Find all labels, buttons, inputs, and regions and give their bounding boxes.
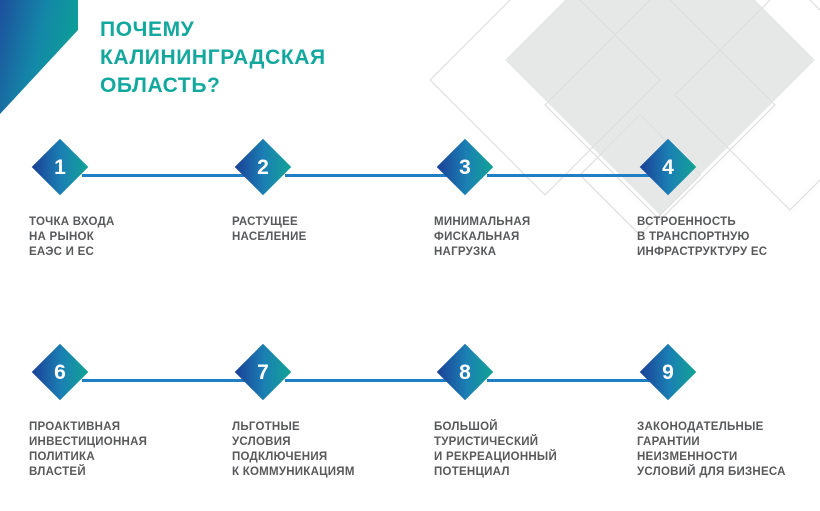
timeline-node-1[interactable]: 1 ТОЧКА ВХОДА НА РЫНОК ЕАЭС И ЕС — [32, 140, 242, 210]
diamond-marker-7: 7 — [235, 345, 291, 415]
diamond-marker-3: 3 — [437, 140, 493, 210]
diamond-marker-1: 1 — [32, 140, 88, 210]
diamond-marker-2: 2 — [235, 140, 291, 210]
node-label: МИНИМАЛЬНАЯ ФИСКАЛЬНАЯ НАГРУЗКА — [434, 215, 634, 260]
diamond-number: 7 — [235, 352, 291, 392]
diamond-marker-8: 8 — [437, 345, 493, 415]
node-label: РАСТУЩЕЕ НАСЕЛЕНИЕ — [232, 215, 432, 245]
timeline-node-8[interactable]: 8 БОЛЬШОЙ ТУРИСТИЧЕСКИЙ И РЕКРЕАЦИОННЫЙ … — [437, 345, 647, 415]
timeline-node-7[interactable]: 7 ЛЬГОТНЫЕ УСЛОВИЯ ПОДКЛЮЧЕНИЯ К КОММУНИ… — [235, 345, 445, 415]
diamond-number: 8 — [437, 352, 493, 392]
diamond-number: 6 — [32, 352, 88, 392]
timeline-row-1: 1 ТОЧКА ВХОДА НА РЫНОК ЕАЭС И ЕС 2 РАСТУ… — [0, 140, 820, 300]
page-title: ПОЧЕМУ КАЛИНИНГРАДСКАЯ ОБЛАСТЬ? — [100, 16, 520, 100]
timeline-row-2: 6 ПРОАКТИВНАЯ ИНВЕСТИЦИОННАЯ ПОЛИТИКА ВЛ… — [0, 345, 820, 505]
diamond-number: 1 — [32, 147, 88, 187]
node-label: ЛЬГОТНЫЕ УСЛОВИЯ ПОДКЛЮЧЕНИЯ К КОММУНИКА… — [232, 420, 432, 480]
node-label: ПРОАКТИВНАЯ ИНВЕСТИЦИОННАЯ ПОЛИТИКА ВЛАС… — [29, 420, 229, 480]
slide-root: ПОЧЕМУ КАЛИНИНГРАДСКАЯ ОБЛАСТЬ? 1 ТОЧКА … — [0, 0, 820, 511]
timeline-node-6[interactable]: 6 ПРОАКТИВНАЯ ИНВЕСТИЦИОННАЯ ПОЛИТИКА ВЛ… — [32, 345, 242, 415]
node-label: ЗАКОНОДАТЕЛЬНЫЕ ГАРАНТИИ НЕИЗМЕННОСТИ УС… — [637, 420, 820, 480]
diamond-marker-6: 6 — [32, 345, 88, 415]
timeline-node-2[interactable]: 2 РАСТУЩЕЕ НАСЕЛЕНИЕ — [235, 140, 445, 210]
node-label: БОЛЬШОЙ ТУРИСТИЧЕСКИЙ И РЕКРЕАЦИОННЫЙ ПО… — [434, 420, 634, 480]
diamond-number: 3 — [437, 147, 493, 187]
corner-chevron-arrow — [0, 0, 78, 114]
diamond-number: 2 — [235, 147, 291, 187]
timeline-node-4[interactable]: 4 ВСТРОЕННОСТЬ В ТРАНСПОРТНУЮ ИНФРАСТРУК… — [640, 140, 820, 210]
node-label: ВСТРОЕННОСТЬ В ТРАНСПОРТНУЮ ИНФРАСТРУКТУ… — [637, 215, 820, 260]
timeline-node-9[interactable]: 9 ЗАКОНОДАТЕЛЬНЫЕ ГАРАНТИИ НЕИЗМЕННОСТИ … — [640, 345, 820, 415]
diamond-marker-9: 9 — [640, 345, 696, 415]
diamond-number: 4 — [640, 147, 696, 187]
corner-chevron-shape — [0, 0, 78, 114]
diamond-number: 9 — [640, 352, 696, 392]
node-label: ТОЧКА ВХОДА НА РЫНОК ЕАЭС И ЕС — [29, 215, 229, 260]
diamond-marker-4: 4 — [640, 140, 696, 210]
timeline-node-3[interactable]: 3 МИНИМАЛЬНАЯ ФИСКАЛЬНАЯ НАГРУЗКА — [437, 140, 647, 210]
